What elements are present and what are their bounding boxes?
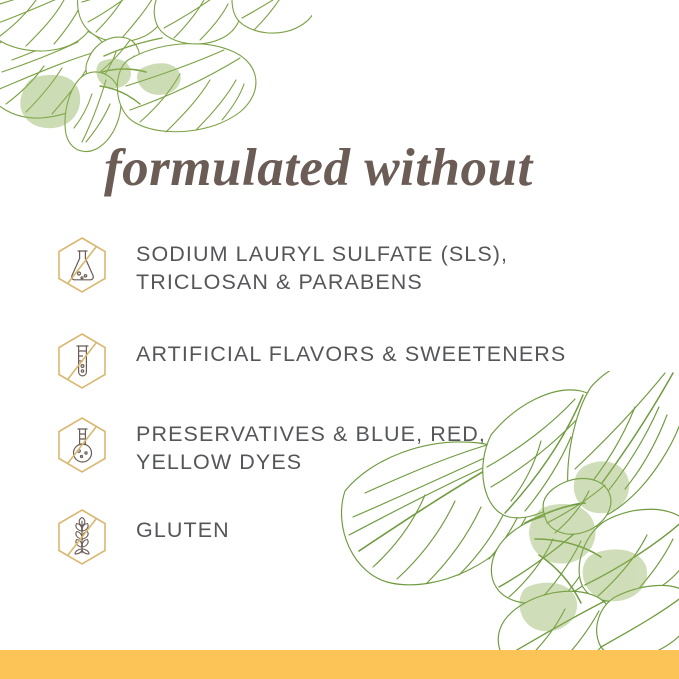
no-wheat-stalk-icon	[55, 508, 109, 566]
no-erlenmeyer-flask-icon	[55, 236, 109, 294]
list-item: PRESERVATIVES & BLUE, RED, YELLOW DYES	[55, 416, 655, 476]
page-title: formulated without	[104, 139, 533, 197]
list-item-label: GLUTEN	[136, 500, 230, 545]
formulated-without-panel: formulated without	[0, 0, 679, 679]
list-item: ARTIFICIAL FLAVORS & SWEETENERS	[55, 324, 655, 390]
formulated-without-list: SODIUM LAURYL SULFATE (SLS), TRICLOSAN &…	[55, 236, 655, 566]
list-item-label: PRESERVATIVES & BLUE, RED, YELLOW DYES	[136, 416, 486, 476]
list-item: GLUTEN	[55, 500, 655, 566]
list-item-label: SODIUM LAURYL SULFATE (SLS), TRICLOSAN &…	[136, 236, 508, 296]
list-item: SODIUM LAURYL SULFATE (SLS), TRICLOSAN &…	[55, 236, 655, 296]
bottom-accent-bar	[0, 650, 679, 679]
no-test-tube-icon	[55, 332, 109, 390]
no-round-flask-icon	[55, 416, 109, 474]
list-item-label: ARTIFICIAL FLAVORS & SWEETENERS	[136, 324, 566, 369]
